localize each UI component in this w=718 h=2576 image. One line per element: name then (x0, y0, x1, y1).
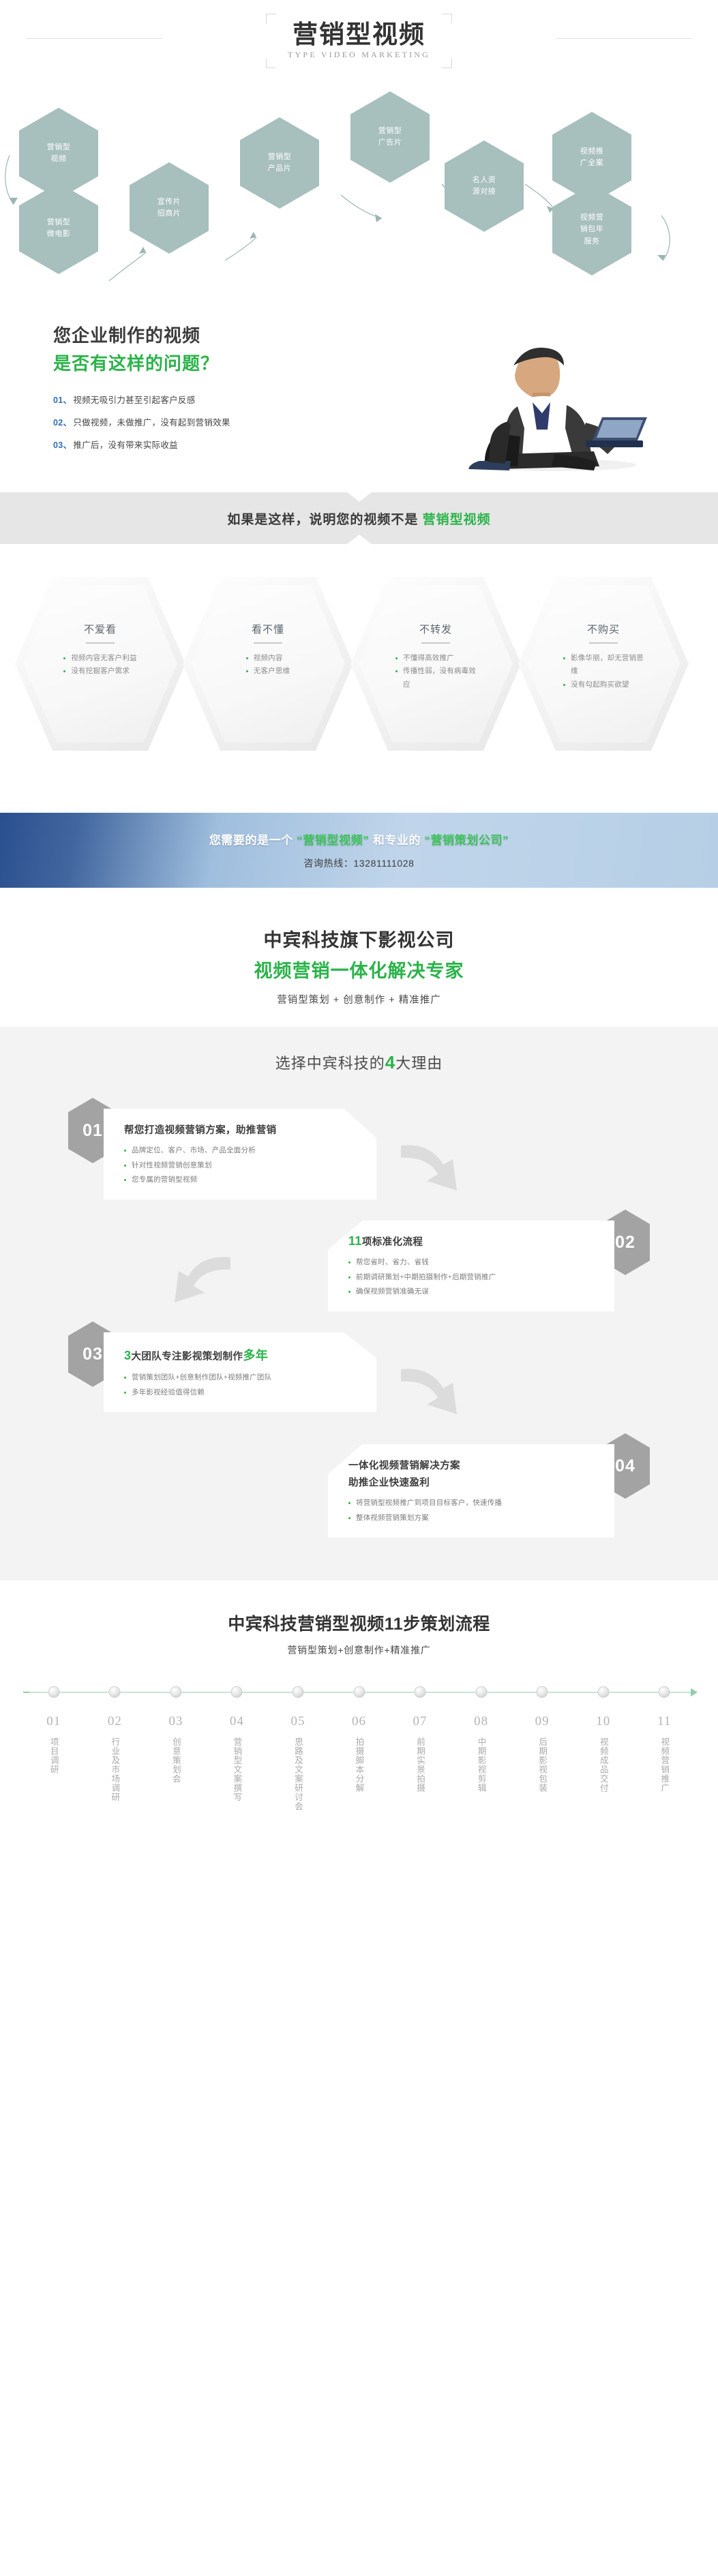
steps-heading-a: 中宾科技营销型视频 (228, 1615, 385, 1634)
steps-heading-b: 步策划流程 (403, 1615, 490, 1634)
hex-service-8[interactable]: 视频营销包年服务 (552, 184, 631, 275)
hex-label: 营销型微电影 (38, 217, 80, 240)
hex-service-2[interactable]: 营销型微电影 (19, 183, 98, 274)
reason-card-bullets: 营销策划团队+创意制作团队+视频推广团队 多年影视经验值得信赖 (124, 1371, 359, 1400)
reason-title-text: 项标准化流程 (362, 1237, 423, 1248)
step-item-09[interactable]: 09后期影视包装 (511, 1714, 573, 1814)
bullet-item: 传播性弱，没有病毒效应 (395, 665, 476, 691)
step-item-11[interactable]: 11视频营销推广 (633, 1714, 695, 1814)
cta-text-b: 和专业的 (369, 834, 424, 847)
bullet-item: 没有勾起购买欲望 (563, 678, 644, 691)
timeline-dot (659, 1686, 670, 1698)
step-label: 视频成品交付 (597, 1737, 610, 1793)
timeline-arrow-icon (691, 1688, 698, 1696)
header-rule-left (26, 38, 162, 39)
hex-label: 营销型广告片 (369, 125, 412, 149)
step-number: 08 (451, 1714, 512, 1729)
reason-card-bullets: 帮您省时、省力、省钱 前期调研策划+中期拍摄制作+后期营销推广 确保视频营销准确… (348, 1255, 597, 1300)
timeline-dot (597, 1686, 609, 1698)
gray-banner-section: 如果是这样，说明您的视频不是 营销型视频 (0, 477, 718, 559)
reasons-heading: 选择中宾科技的4大理由 (0, 1051, 718, 1073)
step-number: 03 (145, 1714, 207, 1729)
header-rule-right (556, 38, 692, 39)
cta-text-a: 您需要的是一个 (209, 834, 297, 847)
reasons-heading-a: 选择中宾科技的 (275, 1055, 385, 1072)
step-item-04[interactable]: 04营销型文案撰写 (207, 1714, 268, 1814)
timeline-dot (415, 1686, 426, 1698)
problem-card-2[interactable]: 看不懂 视频内容 无客户思维 (183, 577, 353, 751)
problem-item-number: 01、 (53, 395, 72, 405)
bullet-item: 没有挖掘客户需求 (63, 665, 136, 678)
reason-row-4: 04 一体化视频营销解决方案 助推企业快速盈利 将营销型视频推广到项目目标客户，… (0, 1429, 718, 1541)
hex-service-3[interactable]: 宣传片招商片 (130, 162, 209, 254)
gray-banner: 如果是这样，说明您的视频不是 营销型视频 (0, 492, 718, 544)
reasons-heading-number: 4 (385, 1052, 395, 1073)
step-item-07[interactable]: 07前期实景拍摄 (389, 1714, 451, 1814)
timeline-dot (537, 1686, 548, 1698)
hex-service-5[interactable]: 营销型广告片 (350, 91, 430, 183)
flow-arrow-down-left-icon (170, 1253, 232, 1308)
steps-subheading: 营销型策划+创意制作+精准推广 (0, 1643, 718, 1657)
problem-item-text: 只做视频，未做推广，没有起到营销效果 (73, 418, 230, 428)
header-title-frame: 营销型视频 TYPE VIDEO MARKETING (266, 14, 452, 68)
hex-service-4[interactable]: 营销型产品片 (240, 117, 319, 209)
reason-row-1: 01 帮您打造视频营销方案，助推营销 品牌定位、客户、市场、产品全面分析 针对性… (0, 1094, 718, 1205)
step-label: 拍摄脚本分解 (353, 1737, 366, 1793)
gray-banner-prefix: 如果是这样，说明您的视频不是 (227, 513, 422, 527)
problem-card-title: 不爱看 (84, 622, 117, 636)
step-label: 中期影视剪辑 (475, 1737, 488, 1793)
timeline-dot (353, 1686, 365, 1698)
timeline-dot (292, 1686, 303, 1698)
step-number: 06 (329, 1714, 390, 1729)
steps-section: 中宾科技营销型视频11步策划流程 营销型策划+创意制作+精准推广 01项目调研 … (0, 1581, 718, 1842)
hex-label: 视频推广全案 (571, 146, 614, 169)
problem-card-body: 看不懂 视频内容 无客户思维 (183, 577, 353, 751)
problem-card-bullets: 影像华丽，却无营销思维 没有勾起购买欲望 (563, 652, 644, 691)
steps-list: 01项目调研 02行业及市场调研 03创意策划会 04营销型文案撰写 05思路及… (23, 1714, 695, 1814)
timeline-dot (475, 1686, 487, 1698)
hex-label: 营销型产品片 (258, 151, 301, 175)
divider (86, 642, 115, 644)
flow-arrow-down-right-icon (400, 1141, 461, 1196)
step-item-01[interactable]: 01项目调研 (23, 1714, 85, 1814)
problem-card-body: 不购买 影像华丽，却无营销思维 没有勾起购买欲望 (518, 577, 689, 751)
divider (254, 642, 282, 644)
step-label: 营销型文案撰写 (230, 1737, 243, 1802)
step-label: 行业及市场调研 (108, 1737, 121, 1802)
blue-cta-banner: 您需要的是一个 “营销型视频” 和专业的 “营销策划公司” 咨询热线：13281… (0, 813, 718, 888)
reasons-heading-b: 大理由 (395, 1055, 443, 1072)
steps-heading-number: 11 (385, 1615, 403, 1634)
timeline-dot (109, 1686, 121, 1698)
step-number: 07 (389, 1714, 451, 1729)
timeline-dot (170, 1686, 181, 1698)
step-label: 前期实景拍摄 (413, 1737, 427, 1793)
reason-card-title: 3大团队专注影视策划制作多年 (124, 1346, 359, 1364)
problem-intro-section: 您企业制作的视频 是否有这样的问题？ 01、视频无吸引力甚至引起客户反感 02、… (0, 307, 718, 477)
timeline-dot (231, 1686, 243, 1698)
company-heading-section: 中宾科技旗下影视公司 视频营销一体化解决专家 营销型策划 + 创意制作 + 精准… (0, 903, 718, 1027)
hex-label: 营销型视频 (38, 142, 80, 165)
reason-card-title-2: 助推企业快速盈利 (348, 1475, 597, 1489)
reason-title-text: 一体化视频营销解决方案 (348, 1461, 460, 1471)
problem-item-text: 视频无吸引力甚至引起客户反感 (73, 395, 195, 405)
company-line-3: 营销型策划 + 创意制作 + 精准推广 (0, 992, 718, 1006)
bullet-item: 多年影视经验值得信赖 (124, 1386, 359, 1401)
step-number: 11 (633, 1714, 695, 1729)
bullet-item: 无客户思维 (246, 665, 290, 678)
bullet-item: 您专属的营销型视频 (124, 1173, 359, 1188)
hex-label: 视频营销包年服务 (571, 212, 614, 247)
problem-card-body: 不爱看 视频内容无客户利益 没有挖掘客户需求 (15, 577, 185, 751)
problem-card-body: 不转发 不懂得高效推广 传播性弱，没有病毒效应 (350, 577, 521, 751)
gray-banner-text: 如果是这样，说明您的视频不是 营销型视频 (227, 509, 490, 528)
reason-card-bullets: 将营销型视频推广到项目目标客户，快速传播 整体视频营销策划方案 (348, 1496, 597, 1525)
reason-card-title: 11项标准化流程 (348, 1234, 597, 1248)
cta-highlight-1: “营销型视频” (297, 834, 369, 847)
reason-title-text: 帮您打造视频营销方案，助推营销 (124, 1125, 277, 1136)
step-label: 创意策划会 (169, 1737, 183, 1784)
step-item-02[interactable]: 02行业及市场调研 (85, 1714, 146, 1814)
bullet-item: 整体视频营销策划方案 (348, 1511, 597, 1526)
page-header: 营销型视频 TYPE VIDEO MARKETING (0, 0, 718, 82)
service-hex-grid: 营销型视频 营销型微电影 宣传片招商片 营销型产品片 营销型广告片 名人资源对接… (0, 82, 718, 307)
bullet-item: 不懂得高效推广 (395, 652, 476, 665)
bullet-item: 针对性视频营销创意策划 (124, 1158, 359, 1173)
steps-heading: 中宾科技营销型视频11步策划流程 (0, 1611, 718, 1635)
steps-timeline (23, 1681, 695, 1705)
blue-cta-section: 您需要的是一个 “营销型视频” 和专业的 “营销策划公司” 咨询热线：13281… (0, 784, 718, 903)
step-label: 后期影视包装 (535, 1737, 549, 1793)
bullet-item: 品牌定位、客户、市场、产品全面分析 (124, 1143, 359, 1158)
reason-card-bullets: 品牌定位、客户、市场、产品全面分析 针对性视频营销创意策划 您专属的营销型视频 (124, 1143, 359, 1188)
step-item-03[interactable]: 03创意策划会 (145, 1714, 207, 1814)
step-item-05[interactable]: 05思路及文案研讨会 (267, 1714, 329, 1814)
hex-label: 宣传片招商片 (148, 196, 191, 220)
blue-cta-headline: 您需要的是一个 “营销型视频” 和专业的 “营销策划公司” (209, 830, 509, 848)
step-item-08[interactable]: 08中期影视剪辑 (451, 1714, 512, 1814)
problem-card-bullets: 视频内容 无客户思维 (246, 652, 290, 678)
step-number: 02 (85, 1714, 146, 1729)
gray-banner-highlight: 营销型视频 (423, 513, 491, 527)
reason-card-04[interactable]: 一体化视频营销解决方案 助推企业快速盈利 将营销型视频推广到项目目标客户，快速传… (328, 1444, 614, 1538)
problem-card-3[interactable]: 不转发 不懂得高效推广 传播性弱，没有病毒效应 (350, 577, 521, 751)
reason-card-01[interactable]: 帮您打造视频营销方案，助推营销 品牌定位、客户、市场、产品全面分析 针对性视频营… (104, 1109, 376, 1200)
step-number: 05 (267, 1714, 329, 1729)
company-line-2: 视频营销一体化解决专家 (0, 956, 718, 983)
bullet-item: 前期调研策划+中期拍摄制作+后期营销推广 (348, 1270, 597, 1285)
divider (589, 642, 618, 644)
step-label: 思路及文案研讨会 (291, 1737, 305, 1811)
reasons-section: 选择中宾科技的4大理由 01 帮您打造视频营销方案，助推营销 品牌定位、客户、市… (0, 1027, 718, 1581)
bullet-item: 帮您省时、省力、省钱 (348, 1255, 597, 1270)
bullet-item: 视频内容无客户利益 (63, 652, 136, 665)
businessman-photo (452, 320, 657, 474)
problem-card-title: 不购买 (587, 622, 620, 636)
step-number: 09 (511, 1714, 573, 1729)
bullet-item: 营销策划团队+创意制作团队+视频推广团队 (124, 1371, 359, 1386)
page-title: 营销型视频 (288, 20, 430, 48)
timeline-dot (48, 1686, 59, 1698)
reason-title-text: 大团队专注影视策划制作 (131, 1351, 243, 1362)
step-number: 01 (23, 1714, 85, 1729)
company-line-1: 中宾科技旗下影视公司 (0, 925, 718, 952)
step-number: 10 (573, 1714, 634, 1729)
bullet-item: 将营销型视频推广到项目目标客户，快速传播 (348, 1496, 597, 1511)
problem-card-bullets: 不懂得高效推广 传播性弱，没有病毒效应 (395, 652, 476, 691)
corner-bracket-icon (266, 59, 275, 68)
step-item-06[interactable]: 06拍摄脚本分解 (329, 1714, 390, 1814)
bullet-item: 确保视频营销准确无误 (348, 1285, 597, 1300)
corner-bracket-icon (443, 14, 452, 23)
problem-card-title: 看不懂 (252, 622, 284, 636)
divider (421, 642, 450, 644)
reason-title-tail: 多年 (243, 1349, 268, 1362)
problem-card-bullets: 视频内容无客户利益 没有挖掘客户需求 (63, 652, 136, 678)
reason-card-title: 帮您打造视频营销方案，助推营销 (124, 1122, 359, 1137)
bullet-item: 影像华丽，却无营销思维 (563, 652, 644, 678)
hex-label: 名人资源对接 (463, 175, 506, 198)
reason-title-number: 11 (348, 1234, 362, 1248)
reason-title-number: 3 (124, 1349, 131, 1362)
problem-card-title: 不转发 (419, 622, 452, 636)
flow-arrow-down-right-icon (400, 1365, 461, 1420)
hex-service-6[interactable]: 名人资源对接 (445, 140, 524, 232)
step-label: 项目调研 (47, 1737, 61, 1774)
bullet-item: 视频内容 (246, 652, 290, 665)
reason-card-02[interactable]: 11项标准化流程 帮您省时、省力、省钱 前期调研策划+中期拍摄制作+后期营销推广… (328, 1220, 614, 1312)
reason-row-3: 03 3大团队专注影视策划制作多年 营销策划团队+创意制作团队+视频推广团队 多… (0, 1317, 718, 1429)
problem-item-text: 推广后，没有带来实际收益 (73, 440, 178, 450)
problem-card-1[interactable]: 不爱看 视频内容无客户利益 没有挖掘客户需求 (15, 577, 185, 751)
step-number: 04 (207, 1714, 268, 1729)
problem-cards-section: 不爱看 视频内容无客户利益 没有挖掘客户需求 看不懂 视频内容 无客户思维 不转… (0, 559, 718, 784)
page-subtitle-en: TYPE VIDEO MARKETING (288, 50, 430, 60)
reason-row-2: 02 11项标准化流程 帮您省时、省力、省钱 前期调研策划+中期拍摄制作+后期营… (0, 1205, 718, 1317)
step-label: 视频营销推广 (657, 1737, 671, 1793)
timeline-start-cap (23, 1692, 29, 1693)
problem-card-4[interactable]: 不购买 影像华丽，却无营销思维 没有勾起购买欲望 (518, 577, 689, 751)
problem-item-number: 03、 (53, 440, 72, 450)
cta-highlight-2: “营销策划公司” (424, 834, 509, 847)
step-item-10[interactable]: 10视频成品交付 (573, 1714, 634, 1814)
problem-item-number: 02、 (53, 418, 72, 428)
hotline-text[interactable]: 咨询热线：13281111028 (303, 856, 414, 870)
reason-card-03[interactable]: 3大团队专注影视策划制作多年 营销策划团队+创意制作团队+视频推广团队 多年影视… (104, 1332, 376, 1412)
reason-card-title: 一体化视频营销解决方案 (348, 1458, 597, 1472)
